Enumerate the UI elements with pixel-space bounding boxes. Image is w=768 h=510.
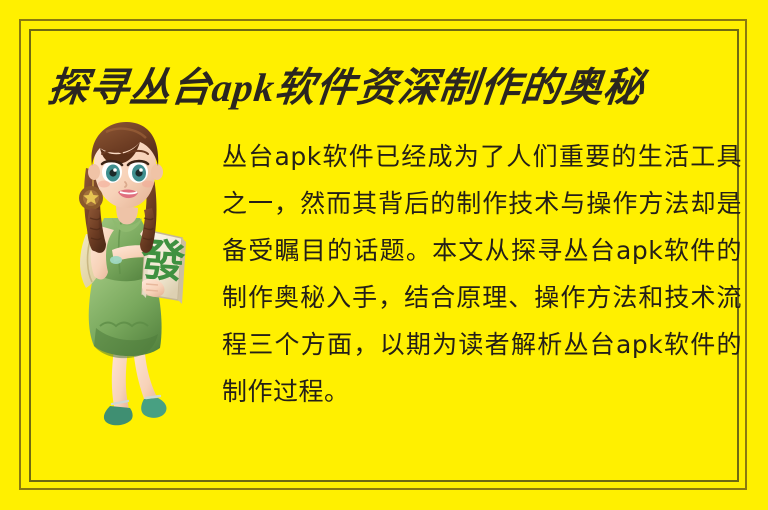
article-body: 丛台apk软件已经成为了人们重要的生活工具之一，然而其背后的制作技术与操作方法却… bbox=[222, 133, 742, 415]
poster-canvas: 探寻丛台apk软件资深制作的奥秘 丛台apk软件已经成为了人们重要的生活工具之一… bbox=[0, 0, 768, 510]
page-title: 探寻丛台apk软件资深制作的奥秘 bbox=[45, 62, 670, 114]
cartoon-girl-illustration: 發 bbox=[60, 122, 210, 434]
